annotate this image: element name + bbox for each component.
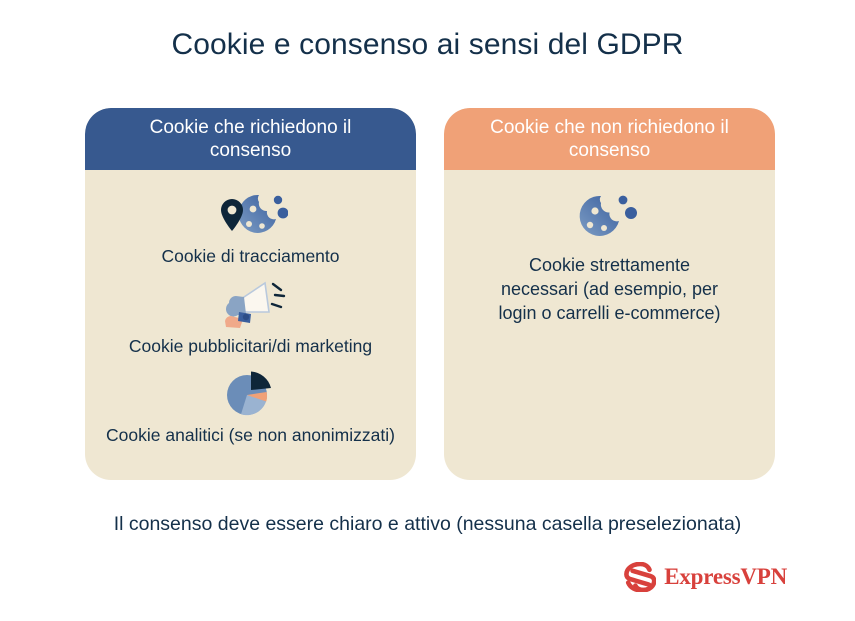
panel-body-consent-not-required: Cookie strettamente necessari (ad esempi… [444, 170, 775, 480]
page-title: Cookie e consenso ai sensi del GDPR [0, 28, 855, 62]
panel-consent-required: Cookie che richiedono il consenso [85, 108, 416, 480]
cookie-location-pin-icon [214, 188, 288, 242]
panel-header-consent-required: Cookie che richiedono il consenso [85, 108, 416, 170]
list-item-label: Cookie analitici (se non anonimizzati) [92, 425, 409, 447]
expressvpn-e-icon [622, 562, 656, 592]
list-item: Cookie di tracciamento [85, 188, 416, 268]
footer-note: Il consenso deve essere chiaro e attivo … [0, 512, 855, 537]
list-item: Cookie pubblicitari/di marketing [85, 278, 416, 358]
list-item: Cookie analitici (se non anonimizzati) [85, 367, 416, 447]
list-item-label: Cookie pubblicitari/di marketing [115, 336, 386, 358]
brand-wordmark: ExpressVPN [664, 564, 787, 590]
list-item: Cookie strettamente necessari (ad esempi… [444, 190, 775, 325]
comparison-columns: Cookie che richiedono il consenso [85, 108, 775, 480]
brand-logo: ExpressVPN [622, 562, 787, 592]
panel-body-consent-required: Cookie di tracciamento [85, 170, 416, 480]
panel-header-consent-not-required: Cookie che non richiedono il consenso [444, 108, 775, 170]
pie-chart-icon [221, 367, 281, 421]
list-item-label: Cookie strettamente necessari (ad esempi… [497, 254, 722, 325]
cookie-icon [577, 190, 643, 244]
megaphone-icon [215, 278, 287, 332]
list-item-label: Cookie di tracciamento [148, 246, 354, 268]
panel-consent-not-required: Cookie che non richiedono il consenso [444, 108, 775, 480]
